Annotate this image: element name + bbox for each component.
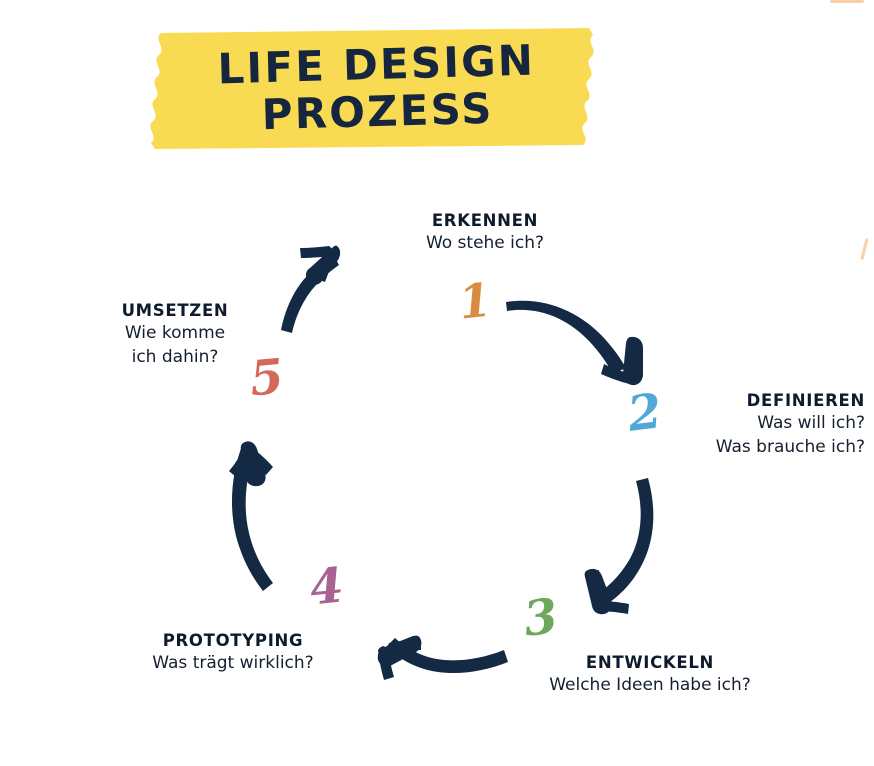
step-umsetzen: UMSETZEN Wie komme ich dahin? [100,300,250,369]
life-design-process-infographic: LIFE DESIGN PROZESS ERKENNEN Wo stehe ic… [0,0,874,766]
step-entwickeln: ENTWICKELN Welche Ideen habe ich? [505,652,795,698]
step-umsetzen-sub2: ich dahin? [100,346,250,369]
step-umsetzen-title: UMSETZEN [100,300,250,322]
step-erkennen-sub1: Wo stehe ich? [360,232,610,255]
banner-line-2: PROZESS [261,86,494,138]
step-umsetzen-sub1: Wie komme [100,322,250,345]
title-banner: LIFE DESIGN PROZESS [143,18,611,158]
step-prototyping-sub1: Was trägt wirklich? [128,652,338,675]
step-entwickeln-title: ENTWICKELN [505,652,795,674]
step-number-5: 5 [248,353,285,404]
arrow-entwickeln-to-prototyping-icon [378,636,508,680]
step-number-4: 4 [308,561,346,612]
step-erkennen: ERKENNEN Wo stehe ich? [360,210,610,256]
step-prototyping-title: PROTOTYPING [128,630,338,652]
step-number-2: 2 [625,387,664,439]
step-entwickeln-sub1: Welche Ideen habe ich? [505,674,795,697]
arrow-erkennen-to-definieren-icon [506,301,643,385]
arrow-definieren-to-entwickeln-icon [585,478,654,614]
edge-artifact-top-right [830,0,864,3]
banner-text-block: LIFE DESIGN PROZESS [141,11,613,164]
edge-artifact-right [860,238,868,260]
arrow-prototyping-to-umsetzen-icon [229,441,273,591]
step-number-3: 3 [521,592,560,644]
step-prototyping: PROTOTYPING Was trägt wirklich? [128,630,338,676]
step-number-1: 1 [457,276,494,325]
step-erkennen-title: ERKENNEN [360,210,610,232]
arrow-umsetzen-to-erkennen-icon [281,246,340,333]
